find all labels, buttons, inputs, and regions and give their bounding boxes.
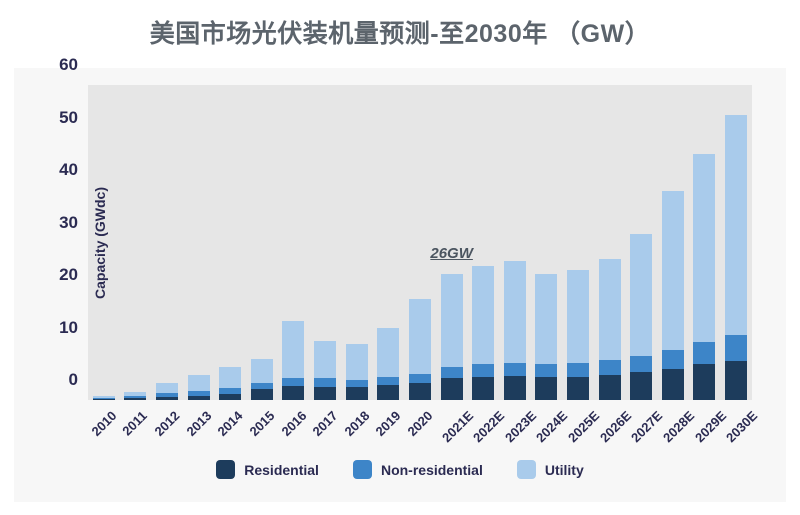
y-axis-tick-label: 20 [59,265,78,285]
bar-segment-non-residential [662,350,684,369]
legend: ResidentialNon-residentialUtility [14,460,786,479]
bar-segment-utility [599,259,621,360]
bar-segment-utility [188,375,210,390]
bar-group[interactable] [662,191,684,400]
bar-group[interactable] [441,274,463,400]
bar-segment-utility [156,383,178,393]
bar-segment-residential [472,377,494,400]
y-axis-tick-label: 10 [59,318,78,338]
bar-segment-residential [567,377,589,400]
bar-group[interactable] [93,396,115,400]
bar-segment-utility [535,274,557,365]
bar-segment-utility [314,341,336,378]
x-axis-tick-label: 2023E [502,408,539,445]
x-axis-tick-label: 2022E [470,408,507,445]
legend-label: Residential [244,462,319,478]
bar-segment-utility [346,344,368,380]
bar-segment-utility [409,299,431,374]
x-axis-tick-label: 2012 [152,408,183,439]
y-axis-tick-label: 50 [59,108,78,128]
bar-segment-residential [282,386,304,400]
legend-swatch-icon [517,460,536,479]
bar-segment-utility [441,274,463,367]
bar-segment-residential [441,378,463,400]
y-axis-tick-label: 30 [59,213,78,233]
bar-group[interactable] [156,383,178,400]
bar-segment-residential [188,396,210,400]
bar-segment-utility [472,266,494,364]
bar-group[interactable] [409,299,431,400]
bar-segment-non-residential [314,378,336,386]
bar-segment-non-residential [441,367,463,378]
bar-group[interactable] [124,392,146,400]
bar-segment-non-residential [630,356,652,372]
x-axis-tick-label: 2020 [404,408,435,439]
bar-group[interactable] [504,261,526,400]
bar-segment-utility [504,261,526,363]
legend-label: Utility [545,462,584,478]
chart-page: 美国市场光伏装机量预测-至2030年 （GW） Capacity (GWdc) … [0,0,800,515]
bar-segment-utility [693,154,715,342]
y-axis-tick-label: 60 [59,55,78,75]
bar-segment-residential [693,364,715,400]
bar-segment-residential [377,385,399,400]
legend-swatch-icon [353,460,372,479]
page-title: 美国市场光伏装机量预测-至2030年 （GW） [0,14,800,50]
legend-label: Non-residential [381,462,483,478]
x-axis-tick-label: 2011 [120,408,151,439]
bar-segment-utility [567,270,589,363]
bar-group[interactable] [693,154,715,400]
bar-segment-utility [630,234,652,356]
annotation-26gw: 26GW [430,245,473,262]
plot-area: Capacity (GWdc) 0102030405060 2010201120… [88,85,752,400]
x-axis-tick-label: 2024E [533,408,570,445]
x-axis-tick-label: 2013 [183,408,214,439]
bar-segment-non-residential [409,374,431,383]
bar-segment-utility [725,115,747,335]
bar-segment-residential [93,399,115,400]
bar-segment-residential [725,361,747,400]
bar-segment-residential [251,389,273,400]
bar-group[interactable] [472,266,494,400]
bar-segment-residential [535,377,557,400]
x-axis-tick-label: 2010 [88,408,119,439]
bar-group[interactable] [599,259,621,400]
bar-segment-non-residential [535,364,557,377]
legend-item[interactable]: Non-residential [353,460,483,479]
bar-series-container [88,85,752,400]
x-axis-tick-label: 2016 [278,408,309,439]
legend-item[interactable]: Utility [517,460,584,479]
bar-group[interactable] [282,321,304,400]
bar-segment-non-residential [346,380,368,387]
x-axis-tick-label: 2029E [692,408,729,445]
bar-segment-residential [662,369,684,400]
bar-segment-utility [219,367,241,387]
bar-segment-residential [314,387,336,400]
legend-item[interactable]: Residential [216,460,319,479]
bar-segment-residential [630,372,652,400]
x-axis-tick-label: 2027E [628,408,665,445]
bar-segment-non-residential [693,342,715,364]
bar-group[interactable] [219,367,241,400]
bar-group[interactable] [188,375,210,400]
bar-segment-non-residential [725,335,747,360]
bar-segment-utility [251,359,273,383]
x-axis-tick-label: 2017 [310,408,341,439]
bar-segment-non-residential [599,360,621,375]
legend-swatch-icon [216,460,235,479]
bar-group[interactable] [251,359,273,400]
x-axis-tick-label: 2026E [597,408,634,445]
x-axis-tick-label: 2021E [439,408,476,445]
y-axis-tick-label: 40 [59,160,78,180]
y-axis-tick-label: 0 [69,370,78,390]
bar-segment-utility [662,191,684,350]
bar-segment-non-residential [567,363,589,377]
bar-segment-residential [124,398,146,400]
bar-segment-utility [282,321,304,378]
bar-segment-residential [219,394,241,400]
x-axis-tick-label: 2019 [373,408,404,439]
bar-segment-residential [409,383,431,400]
bar-segment-non-residential [282,378,304,386]
x-axis-tick-label: 2025E [565,408,602,445]
x-axis-tick-label: 2014 [215,408,246,439]
bar-segment-non-residential [504,363,526,376]
bar-group[interactable] [377,328,399,400]
bar-segment-residential [599,375,621,400]
x-axis-tick-label: 2030E [723,408,760,445]
bar-group[interactable] [567,270,589,400]
bar-segment-non-residential [472,364,494,377]
bar-group[interactable] [535,274,557,401]
bar-group[interactable] [314,341,336,400]
bar-segment-residential [346,387,368,400]
bar-group[interactable] [725,115,747,400]
x-axis-tick-label: 2028E [660,408,697,445]
chart-panel: Capacity (GWdc) 0102030405060 2010201120… [14,68,786,502]
bar-segment-non-residential [377,377,399,385]
x-axis-tick-label: 2018 [341,408,372,439]
x-axis-tick-label: 2015 [246,408,277,439]
bar-group[interactable] [346,344,368,400]
bar-group[interactable] [630,234,652,400]
bar-segment-utility [377,328,399,377]
bar-segment-residential [156,397,178,400]
bar-segment-residential [504,376,526,400]
